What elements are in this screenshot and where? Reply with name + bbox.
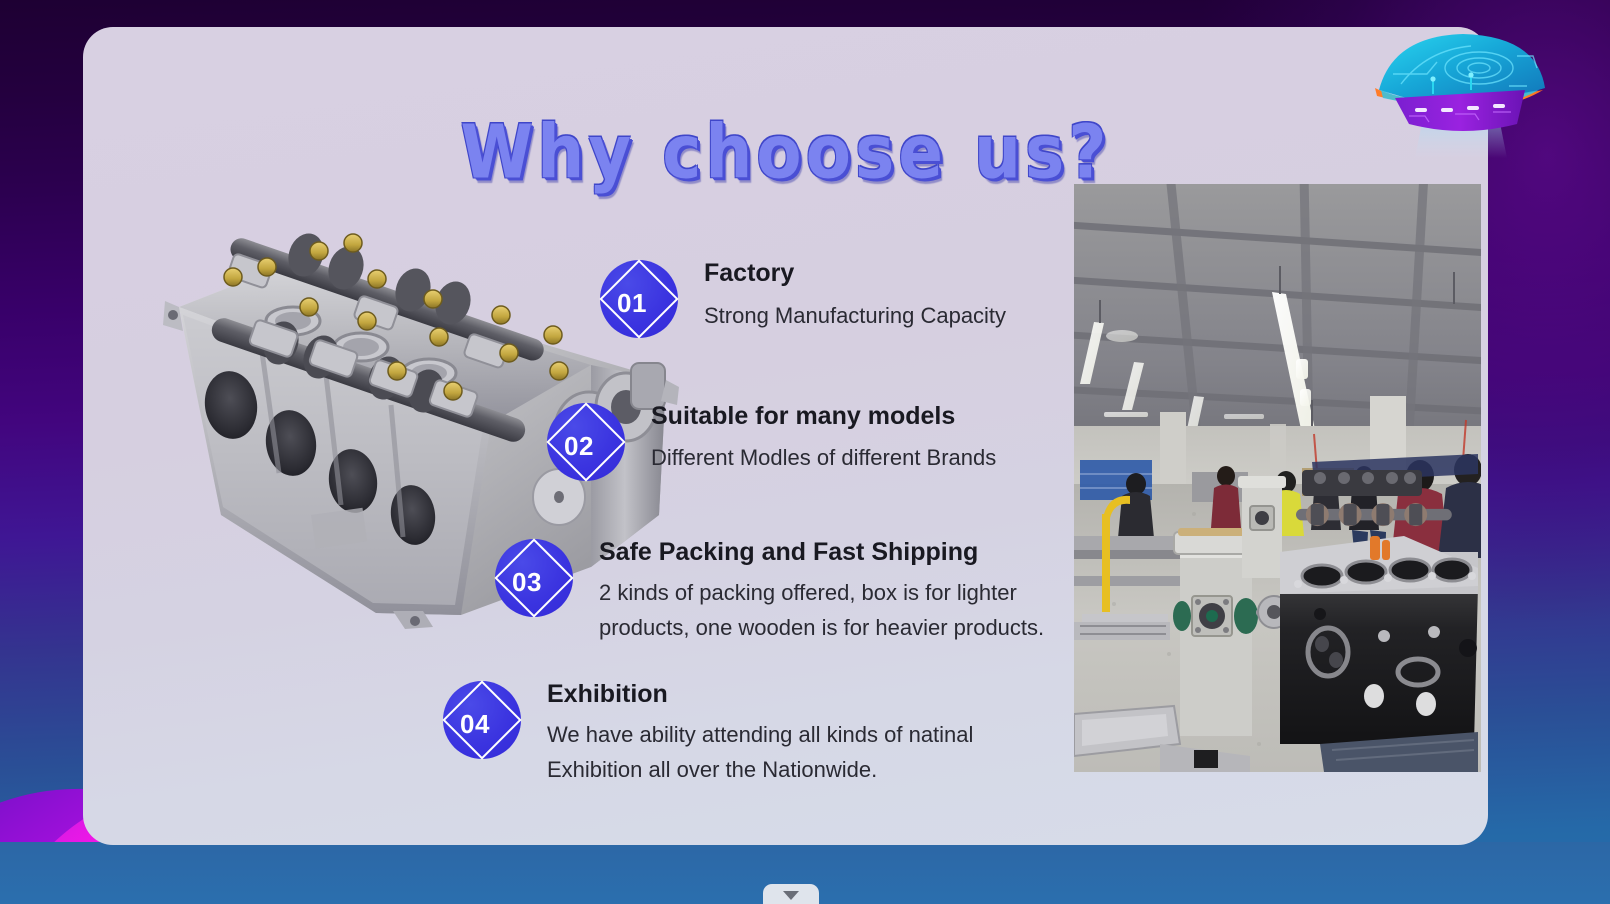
feature-description: Different Modles of different Brands <box>651 441 996 475</box>
feature-item-exhibition: 04 Exhibition We have ability attending … <box>443 677 1027 787</box>
badge-number: 02 <box>547 403 625 481</box>
badge-number: 03 <box>495 539 573 617</box>
feature-text-block: Safe Packing and Fast Shipping 2 kinds o… <box>599 535 1079 645</box>
feature-text-block: Suitable for many models Different Modle… <box>651 399 996 476</box>
feature-list: 01 Factory Strong Manufacturing Capacity… <box>83 27 1488 845</box>
chevron-down-icon <box>783 891 799 900</box>
feature-text-block: Factory Strong Manufacturing Capacity <box>704 256 1006 334</box>
feature-title: Suitable for many models <box>651 401 996 432</box>
badge-04: 04 <box>443 681 521 759</box>
badge-number: 01 <box>600 260 678 338</box>
badge-03: 03 <box>495 539 573 617</box>
badge-02: 02 <box>547 403 625 481</box>
feature-title: Safe Packing and Fast Shipping <box>599 537 1079 568</box>
feature-title: Factory <box>704 258 1006 289</box>
feature-description: 2 kinds of packing offered, box is for l… <box>599 576 1079 645</box>
feature-item-shipping: 03 Safe Packing and Fast Shipping 2 kind… <box>495 535 1079 645</box>
slide-background: Why choose us? <box>0 0 1610 904</box>
feature-item-factory: 01 Factory Strong Manufacturing Capacity <box>600 256 1006 338</box>
feature-text-block: Exhibition We have ability attending all… <box>547 677 1027 787</box>
badge-number: 04 <box>443 681 521 759</box>
badge-01: 01 <box>600 260 678 338</box>
feature-title: Exhibition <box>547 679 1027 710</box>
scroll-down-tab[interactable] <box>763 884 819 904</box>
feature-item-models: 02 Suitable for many models Different Mo… <box>547 399 996 481</box>
feature-description: Strong Manufacturing Capacity <box>704 299 1006 333</box>
content-card: Why choose us? <box>83 27 1488 845</box>
feature-description: We have ability attending all kinds of n… <box>547 718 1027 787</box>
